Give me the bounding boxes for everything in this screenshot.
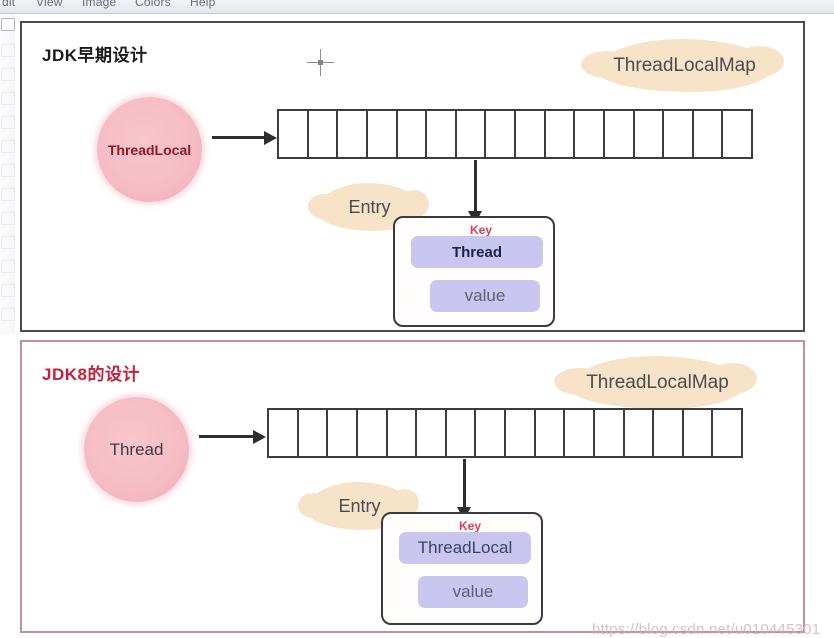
tool-pencil[interactable]: [1, 164, 15, 177]
cloud-label-threadlocalmap-jdk8: ThreadLocalMap: [586, 372, 729, 394]
arrow-threadlocal-to-array: [212, 136, 266, 139]
array-cell: [723, 111, 751, 157]
array-cell: [654, 410, 684, 456]
array-cell: [506, 410, 536, 456]
tool-magnifier[interactable]: [1, 140, 15, 153]
paint-application-window: dit View Image Colors Help JDK早期设计 Threa…: [0, 0, 834, 636]
menu-item-help[interactable]: Help: [190, 0, 215, 9]
tool-pick-color[interactable]: [1, 116, 15, 129]
array-cell: [575, 111, 605, 157]
menu-item-image[interactable]: Image: [82, 0, 116, 9]
panel-title-jdk8: JDK8的设计: [42, 360, 140, 385]
panel-jdk8-design: JDK8的设计 ThreadLocalMap Thread Entry Key: [20, 340, 805, 633]
entry-key-text-jdk8: ThreadLocal: [418, 538, 513, 558]
array-cell: [338, 111, 368, 157]
array-cell: [368, 111, 398, 157]
cloud-label-entry-early: Entry: [348, 197, 390, 218]
tool-free-form-select[interactable]: [1, 18, 15, 31]
array-cell: [328, 410, 358, 456]
array-cell: [358, 410, 388, 456]
array-cell: [309, 111, 339, 157]
entry-key-slot-early: Thread: [411, 236, 543, 268]
array-cell: [664, 111, 694, 157]
menu-bar: dit View Image Colors Help: [0, 0, 834, 14]
arrow-thread-to-array: [199, 435, 255, 438]
array-cell: [476, 410, 506, 456]
array-cell: [625, 410, 655, 456]
tool-airbrush[interactable]: [1, 212, 15, 225]
cloud-label-threadlocalmap-early: ThreadLocalMap: [613, 55, 756, 77]
node-thread-circle: Thread: [84, 397, 189, 502]
tool-palette[interactable]: [0, 14, 16, 334]
array-cell: [684, 410, 714, 456]
canvas-left-gutter: [0, 336, 15, 636]
array-cell: [269, 410, 299, 456]
tool-rectangle[interactable]: [1, 284, 15, 297]
array-cell: [713, 410, 741, 456]
entry-value-slot-early: value: [430, 280, 540, 312]
entry-box-jdk8: Key ThreadLocal value: [381, 512, 543, 625]
tool-select[interactable]: [1, 44, 15, 57]
node-label-threadlocal: ThreadLocal: [108, 142, 191, 158]
array-cell: [398, 111, 428, 157]
array-cell: [516, 111, 546, 157]
array-cell: [635, 111, 665, 157]
tool-brush[interactable]: [1, 188, 15, 201]
drawing-canvas[interactable]: JDK早期设计 ThreadLocalMap ThreadLocal Entry…: [15, 14, 834, 636]
tool-line[interactable]: [1, 260, 15, 273]
entry-value-slot-jdk8: value: [418, 576, 528, 608]
tool-ellipse[interactable]: [1, 308, 15, 321]
entry-box-early: Key Thread value: [393, 216, 555, 327]
array-cell: [427, 111, 457, 157]
entry-key-text-early: Thread: [452, 244, 502, 261]
array-cell: [447, 410, 477, 456]
menu-item-colors[interactable]: Colors: [135, 0, 171, 9]
array-cell: [299, 410, 329, 456]
array-cell: [536, 410, 566, 456]
entry-value-text-jdk8: value: [453, 582, 494, 602]
menu-item-view[interactable]: View: [36, 0, 63, 9]
entry-key-slot-jdk8: ThreadLocal: [399, 532, 531, 564]
key-label-jdk8: Key: [459, 519, 481, 533]
node-threadlocal-circle: ThreadLocal: [97, 97, 202, 202]
menu-item-edit[interactable]: dit: [2, 0, 15, 9]
tool-eraser[interactable]: [1, 68, 15, 81]
entry-value-text-early: value: [465, 286, 506, 306]
array-cell: [595, 410, 625, 456]
cloud-threadlocalmap-jdk8: ThreadLocalMap: [570, 356, 745, 409]
array-cell: [565, 410, 595, 456]
tool-fill[interactable]: [1, 92, 15, 105]
arrow-array-to-entry-jdk8: [463, 459, 466, 509]
arrow-array-to-entry-early: [474, 160, 477, 213]
array-cell: [546, 111, 576, 157]
csdn-watermark: https://blog.csdn.net/u010445301: [592, 621, 820, 638]
tool-text[interactable]: [1, 236, 15, 249]
array-cell: [486, 111, 516, 157]
panel-jdk-early-design: JDK早期设计 ThreadLocalMap ThreadLocal Entry…: [20, 21, 805, 332]
key-label-early: Key: [470, 223, 492, 237]
array-table-early: [277, 109, 753, 159]
panel-title-early: JDK早期设计: [42, 41, 148, 66]
array-cell: [457, 111, 487, 157]
cloud-label-entry-jdk8: Entry: [338, 496, 380, 517]
array-cell: [279, 111, 309, 157]
array-cell: [388, 410, 418, 456]
array-cell: [694, 111, 724, 157]
array-table-jdk8: [267, 408, 743, 458]
array-cell: [605, 111, 635, 157]
node-label-thread: Thread: [110, 440, 164, 460]
cloud-threadlocalmap-early: ThreadLocalMap: [597, 39, 772, 92]
array-cell: [417, 410, 447, 456]
